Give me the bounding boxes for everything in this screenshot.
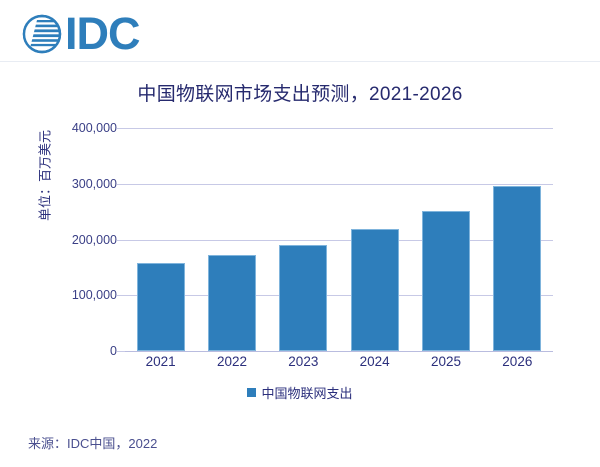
y-tick-label-300000: 300,000 [45,177,117,191]
x-axis-labels: 2021 2022 2023 2024 2025 2026 [125,354,553,376]
bar-2023[interactable] [279,245,327,351]
legend-swatch-icon [247,388,256,397]
gridline-400000 [125,128,553,129]
y-tick-label-0: 0 [45,344,117,358]
bar-2022[interactable] [208,255,256,351]
y-tick-label-200000: 200,000 [45,233,117,247]
x-tick-label-2026: 2026 [482,354,553,369]
source-note: 来源：IDC中国，2022 [28,433,157,452]
x-tick-label-2023: 2023 [268,354,339,369]
y-tick-mark-300000 [117,184,125,185]
y-tick-mark-400000 [117,128,125,129]
y-tick-mark-0 [117,351,125,352]
x-tick-label-2021: 2021 [125,354,196,369]
chart-container: 中国物联网市场支出预测，2021-2026 单位：百万美元 400,000 30… [0,62,600,467]
x-tick-label-2024: 2024 [339,354,410,369]
x-tick-label-2022: 2022 [196,354,267,369]
y-tick-label-100000: 100,000 [45,288,117,302]
bar-2024[interactable] [351,229,399,351]
idc-logo: IDC [20,11,140,57]
y-axis-ticks: 400,000 300,000 200,000 100,000 0 [43,128,117,351]
legend-label-0: 中国物联网支出 [261,383,352,402]
gridline-200000 [125,240,553,241]
bar-2026[interactable] [493,186,541,351]
bar-2021[interactable] [137,263,185,351]
y-tick-mark-200000 [117,240,125,241]
bar-2025[interactable] [422,211,470,351]
chart-page: IDC 中国物联网市场支出预测，2021-2026 单位：百万美元 400,00… [0,0,600,467]
chart-legend: 中国物联网支出 [0,383,600,402]
chart-title: 中国物联网市场支出预测，2021-2026 [0,79,600,106]
y-tick-mark-100000 [117,295,125,296]
axis-baseline [125,351,553,352]
page-header: IDC [0,0,600,62]
y-tick-label-400000: 400,000 [45,121,117,135]
idc-logo-text: IDC [65,12,140,56]
globe-icon [20,12,64,56]
gridline-300000 [125,184,553,185]
x-tick-label-2025: 2025 [410,354,481,369]
gridline-100000 [125,295,553,296]
plot-area [125,128,553,351]
